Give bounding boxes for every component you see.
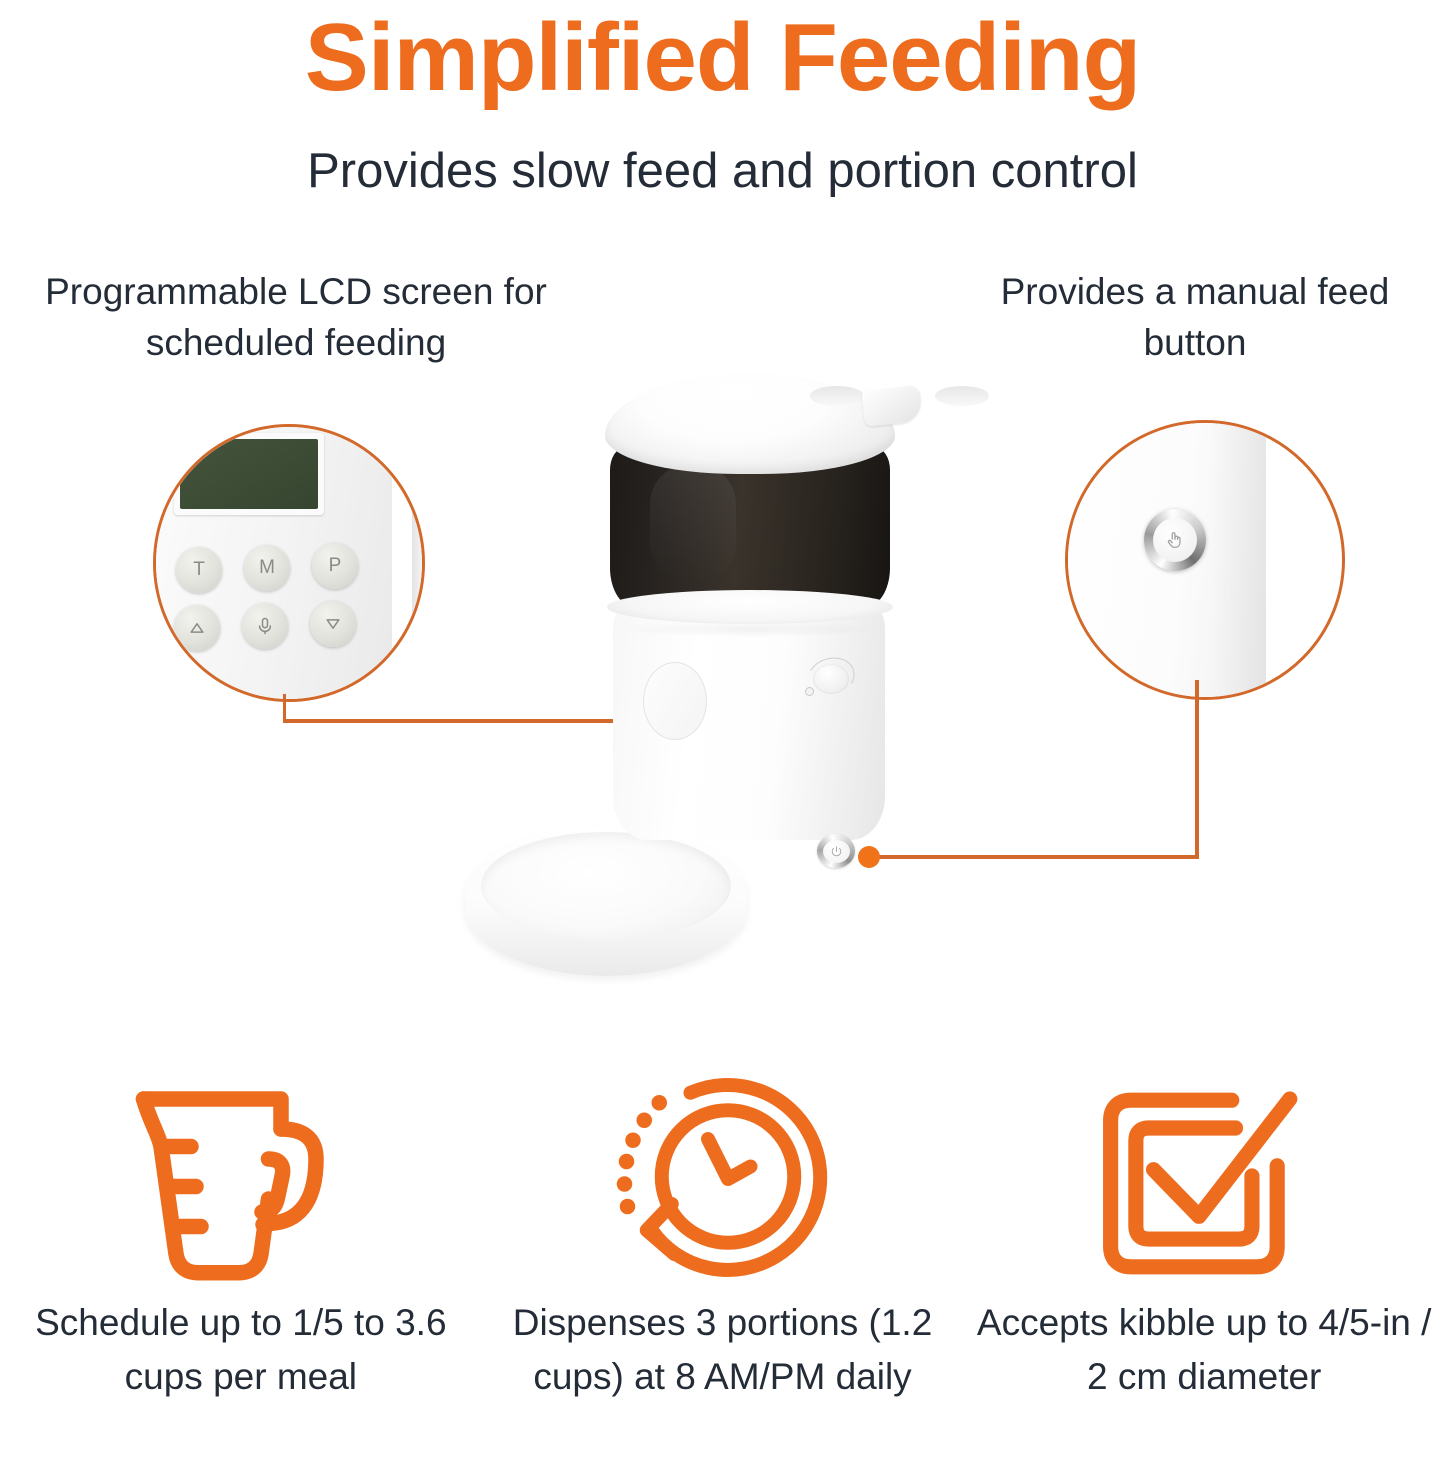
lid-notch-left (810, 386, 864, 406)
hopper-highlight (650, 464, 736, 584)
body-shading (1208, 420, 1266, 700)
feature-item-kibble: Accepts kibble up to 4/5-in / 2 cm diame… (963, 1066, 1445, 1462)
down-triangle-icon[interactable] (310, 601, 356, 647)
automatic-pet-feeder-image (455, 374, 915, 1014)
clock-arrow-icon (608, 1066, 838, 1296)
feature-item-schedule: Dispenses 3 portions (1.2 cups) at 8 AM/… (482, 1066, 964, 1462)
feeder-lid[interactable] (605, 374, 895, 474)
up-triangle-icon[interactable] (174, 605, 220, 651)
feeding-bowl-basin (481, 832, 731, 940)
feature-caption-portion: Schedule up to 1/5 to 3.6 cups per meal (0, 1296, 482, 1403)
key-timer[interactable]: T (176, 547, 222, 593)
panel-edge-highlight (412, 424, 425, 702)
feature-caption-schedule: Dispenses 3 portions (1.2 cups) at 8 AM/… (482, 1296, 964, 1403)
lid-notch-right (935, 386, 989, 406)
callout-label-manual-feed: Provides a manual feed button (960, 266, 1430, 368)
feature-item-portion: Schedule up to 1/5 to 3.6 cups per meal (0, 1066, 482, 1462)
microphone-icon[interactable] (242, 603, 288, 649)
lcd-screen-detail-circle: T M P (153, 424, 425, 702)
touch-hand-icon (1153, 518, 1197, 562)
feature-caption-kibble: Accepts kibble up to 4/5-in / 2 cm diame… (963, 1296, 1445, 1403)
hopper-bottom-rim (607, 590, 893, 624)
feeder-body-illustration (1065, 420, 1266, 700)
manual-feed-button-detail-circle (1065, 420, 1345, 700)
measuring-cup-icon (116, 1066, 366, 1296)
feeder-feed-button[interactable] (817, 834, 855, 868)
lid-handle-tab[interactable] (861, 385, 922, 427)
manual-feed-button[interactable] (1144, 509, 1206, 571)
key-mode[interactable]: M (244, 545, 290, 591)
dial-knob[interactable] (813, 664, 849, 694)
page-title: Simplified Feeding (0, 6, 1445, 110)
key-play[interactable]: P (312, 543, 358, 589)
feed-button-glyph (823, 840, 850, 863)
connector-line-lcd-vertical (283, 694, 286, 722)
control-panel-illustration: T M P (153, 424, 392, 702)
checkbox-check-icon (1090, 1066, 1318, 1296)
callout-label-lcd: Programmable LCD screen for scheduled fe… (6, 266, 586, 368)
lcd-screen (180, 439, 318, 509)
feature-row: Schedule up to 1/5 to 3.6 cups per meal … (0, 1066, 1445, 1462)
product-infographic: Simplified Feeding Provides slow feed an… (0, 0, 1445, 1462)
page-subtitle: Provides slow feed and portion control (0, 142, 1445, 201)
dial-knob-marker (805, 687, 814, 696)
base-panel-oval (643, 662, 707, 740)
connector-line-feed-horizontal (877, 855, 1199, 859)
connector-line-feed-vertical (1195, 680, 1199, 858)
